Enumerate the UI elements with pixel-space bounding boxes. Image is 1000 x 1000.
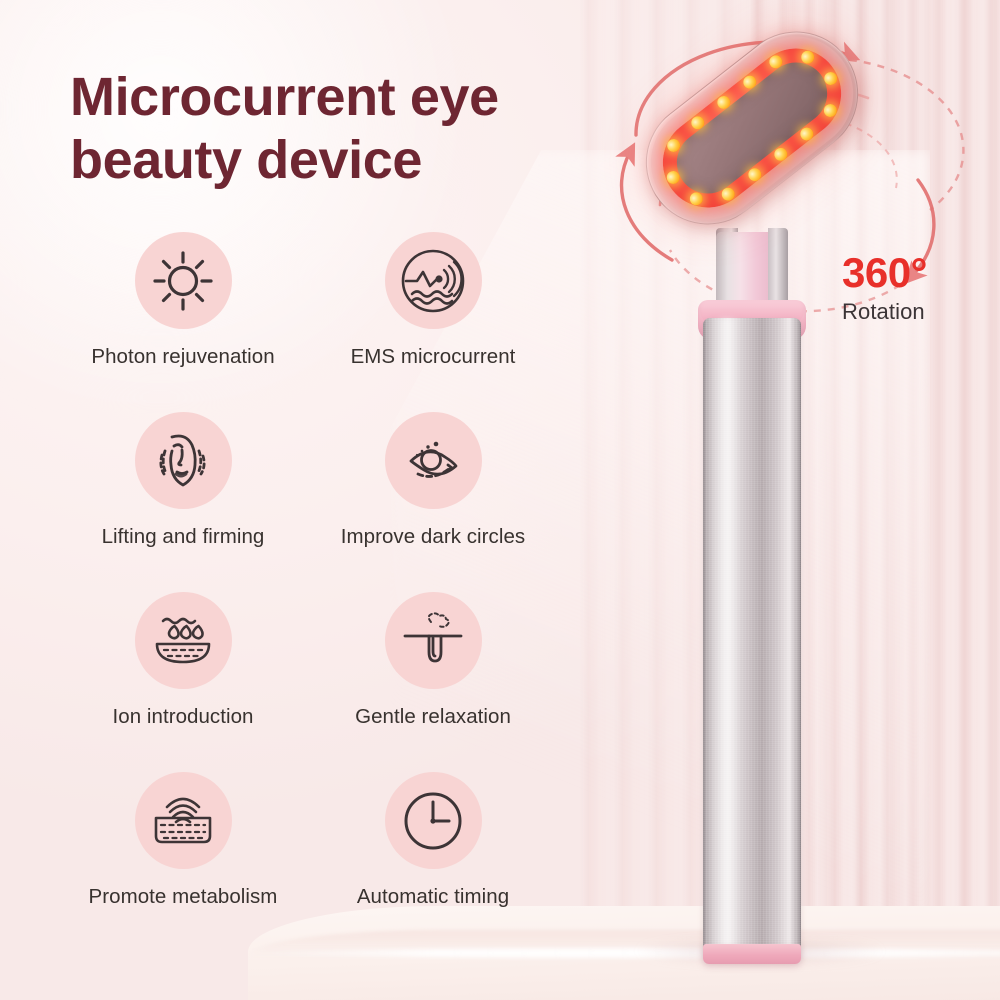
feature-label: Improve dark circles <box>341 525 525 549</box>
feature-item-promote-metabolism: Promote metabolism <box>58 772 308 952</box>
pore-follicle-icon <box>385 592 482 689</box>
feature-item-ems-microcurrent: EMS microcurrent <box>308 232 558 412</box>
eye-icon <box>385 412 482 509</box>
feature-label: EMS microcurrent <box>351 345 516 369</box>
feature-item-gentle-relaxation: Gentle relaxation <box>308 592 558 772</box>
device-handle <box>703 318 801 960</box>
page-title: Microcurrent eye beauty device <box>70 66 610 191</box>
feature-item-improve-dark-circles: Improve dark circles <box>308 412 558 592</box>
water-droplets-icon <box>135 592 232 689</box>
feature-label: Promote metabolism <box>89 885 278 909</box>
feature-item-photon-rejuvenation: Photon rejuvenation <box>58 232 308 412</box>
face-profile-icon <box>135 412 232 509</box>
ems-wave-icon <box>385 232 482 329</box>
product-marketing-image: Microcurrent eye beauty device Photon <box>0 0 1000 1000</box>
title-line-1: Microcurrent eye <box>70 66 610 129</box>
rotation-callout: 360° Rotation <box>842 252 927 326</box>
rotation-degrees: 360° <box>842 252 927 294</box>
feature-label: Gentle relaxation <box>355 705 511 729</box>
feature-label: Lifting and firming <box>102 525 265 549</box>
sun-icon <box>135 232 232 329</box>
feature-item-automatic-timing: Automatic timing <box>308 772 558 952</box>
feature-label: Photon rejuvenation <box>91 345 274 369</box>
skin-waves-icon <box>135 772 232 869</box>
feature-item-ion-introduction: Ion introduction <box>58 592 308 772</box>
rotation-caption: Rotation <box>842 298 927 326</box>
feature-list: Photon rejuvenation EMS microcurrent <box>58 232 558 952</box>
feature-item-lifting-and-firming: Lifting and firming <box>58 412 308 592</box>
feature-label: Ion introduction <box>113 705 254 729</box>
feature-label: Automatic timing <box>357 885 509 909</box>
device-base <box>703 944 801 964</box>
title-line-2: beauty device <box>70 129 610 192</box>
clock-icon <box>385 772 482 869</box>
handle-highlight <box>715 318 740 960</box>
